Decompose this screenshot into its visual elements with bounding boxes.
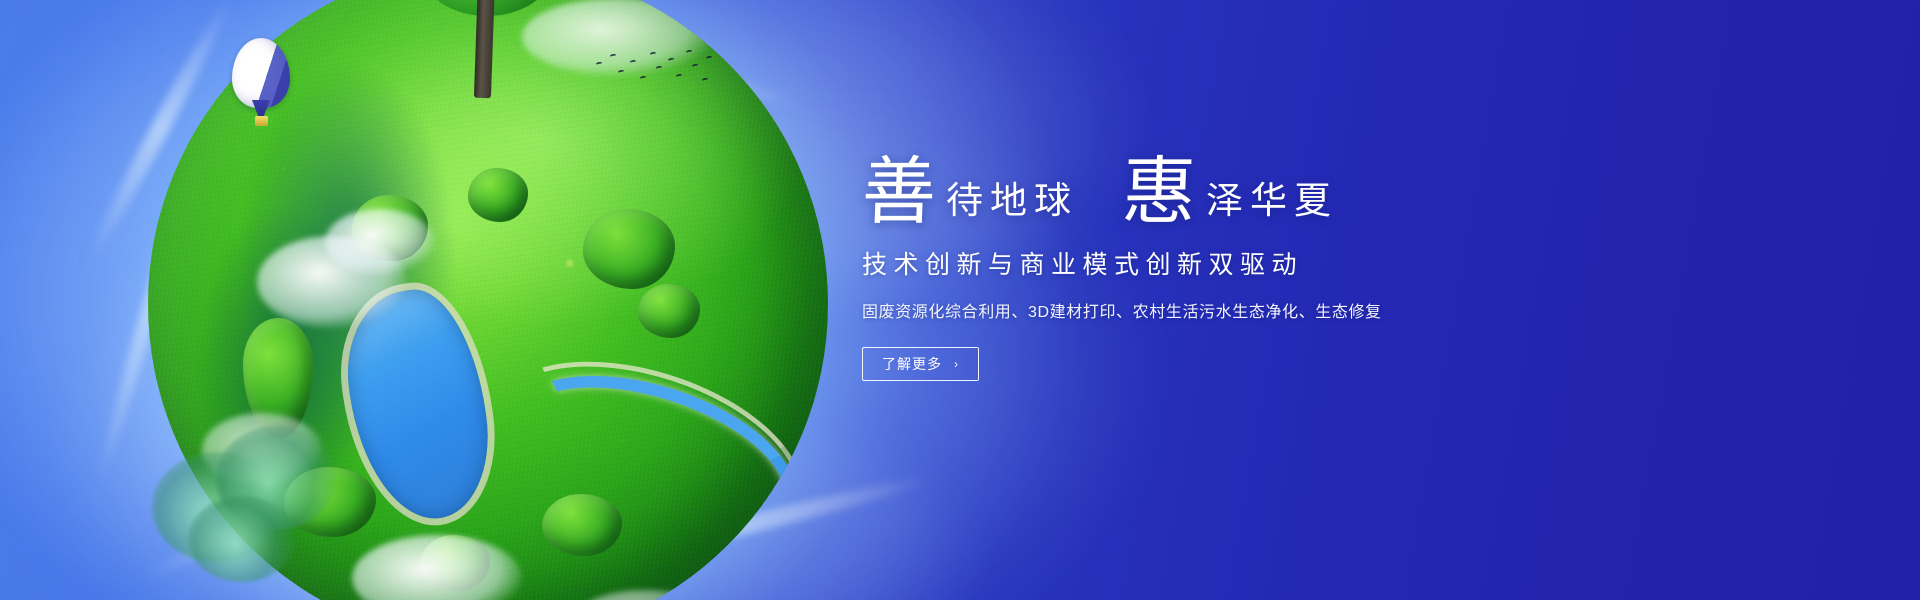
chevron-right-icon: › bbox=[954, 357, 959, 371]
hero-banner: 善 待地球 惠 泽华夏 技术创新与商业模式创新双驱动 固废资源化综合利用、3D建… bbox=[0, 0, 1920, 600]
tree-canopy bbox=[638, 284, 700, 338]
headline-big-char-1: 善 bbox=[861, 157, 937, 228]
bird-icon bbox=[686, 49, 692, 53]
headline-rest-char-1: 待地球 bbox=[946, 182, 1078, 228]
hot-air-balloon-icon bbox=[232, 38, 290, 130]
bird-icon bbox=[706, 55, 712, 59]
bird-icon bbox=[656, 65, 662, 69]
bird-icon bbox=[692, 63, 698, 67]
big-tree-icon bbox=[330, 0, 630, 100]
hero-description: 固废资源化综合利用、3D建材打印、农村生活污水生态净化、生态修复 bbox=[862, 301, 1562, 325]
secondary-tree-icon bbox=[132, 392, 362, 592]
hero-subtitle: 技术创新与商业模式创新双驱动 bbox=[862, 250, 1562, 281]
balloon-envelope bbox=[232, 38, 290, 108]
bird-icon bbox=[596, 61, 602, 65]
tree-canopy bbox=[468, 168, 528, 222]
tree-trunk bbox=[474, 0, 495, 98]
headline-rest-char-2: 泽华夏 bbox=[1206, 182, 1338, 228]
bird-icon bbox=[630, 59, 636, 63]
balloon-basket bbox=[255, 116, 268, 126]
headline-phrase-2: 惠 泽华夏 bbox=[1122, 157, 1338, 228]
bird-icon bbox=[640, 75, 646, 79]
tree-crown bbox=[188, 496, 296, 582]
learn-more-button[interactable]: 了解更多 › bbox=[862, 347, 979, 381]
balloon-skirt bbox=[252, 100, 270, 116]
bird-icon bbox=[650, 51, 656, 55]
learn-more-label: 了解更多 bbox=[882, 354, 942, 374]
bird-icon bbox=[676, 73, 682, 77]
bird-icon bbox=[610, 53, 616, 57]
headline-big-char-2: 惠 bbox=[1121, 157, 1197, 228]
bird-icon bbox=[702, 77, 708, 81]
hero-headline: 善 待地球 惠 泽华夏 bbox=[862, 132, 1562, 228]
bird-icon bbox=[668, 57, 674, 61]
cloud bbox=[325, 209, 435, 275]
bird-icon bbox=[618, 69, 624, 73]
hero-content: 善 待地球 惠 泽华夏 技术创新与商业模式创新双驱动 固废资源化综合利用、3D建… bbox=[862, 132, 1562, 381]
headline-phrase-1: 善 待地球 bbox=[862, 157, 1078, 228]
tree-canopy bbox=[583, 209, 675, 289]
birds-flock-icon bbox=[592, 48, 716, 92]
